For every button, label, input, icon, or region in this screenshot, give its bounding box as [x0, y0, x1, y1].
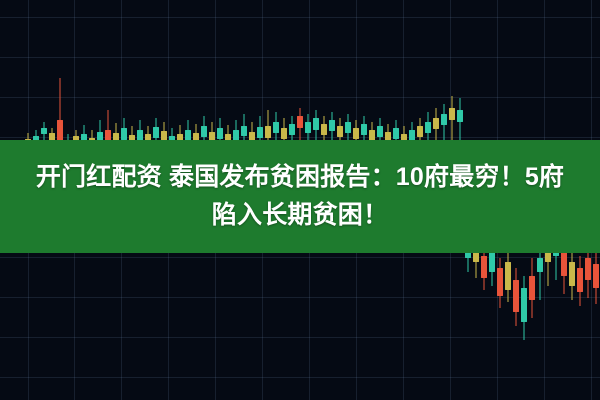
headline-line-2: 陷入长期贫困！	[212, 196, 388, 234]
screenshot-root: 开门红配资 泰国发布贫困报告：10府最穷！5府 陷入长期贫困！	[0, 0, 600, 400]
candle-body	[241, 126, 247, 136]
candle-body	[505, 262, 511, 290]
candle-body	[521, 288, 527, 322]
candle-body	[433, 118, 439, 129]
candle-body	[593, 264, 599, 288]
candle-body	[585, 258, 591, 280]
headline-line-1: 开门红配资 泰国发布贫困报告：10府最穷！5府	[36, 158, 564, 196]
candle-body	[273, 122, 279, 133]
candle-body	[289, 124, 295, 135]
candle-body	[361, 124, 367, 135]
candle-body	[345, 122, 351, 133]
candle-body	[321, 124, 327, 135]
candle-body	[561, 252, 567, 276]
candle-body	[481, 256, 487, 278]
candle-body	[537, 258, 543, 272]
candle-body	[305, 122, 311, 133]
candle-body	[153, 127, 159, 138]
headline-banner: 开门红配资 泰国发布贫困报告：10府最穷！5府 陷入长期贫困！	[0, 140, 600, 253]
candle-body	[417, 126, 423, 137]
candle-body	[329, 120, 335, 131]
candle-body	[41, 128, 47, 134]
candle-body	[513, 280, 519, 312]
candle-body	[393, 128, 399, 139]
candle-body	[377, 126, 383, 137]
candle-body	[577, 268, 583, 292]
candle-body	[529, 276, 535, 300]
candle-body	[337, 126, 343, 137]
candle-body	[449, 108, 455, 120]
candle-body	[313, 118, 319, 130]
candle-body	[257, 127, 263, 138]
candle-body	[457, 110, 463, 122]
candle-body	[201, 126, 207, 137]
candle-body	[281, 128, 287, 139]
candle-body	[497, 268, 503, 296]
candle-body	[425, 122, 431, 133]
candle-body	[489, 250, 495, 272]
candle-body	[353, 128, 359, 139]
candle-body	[121, 128, 127, 140]
candle-body	[217, 128, 223, 139]
candle-body	[569, 262, 575, 286]
candle-body	[297, 116, 303, 128]
candle-body	[265, 126, 271, 138]
candle-body	[441, 114, 447, 125]
